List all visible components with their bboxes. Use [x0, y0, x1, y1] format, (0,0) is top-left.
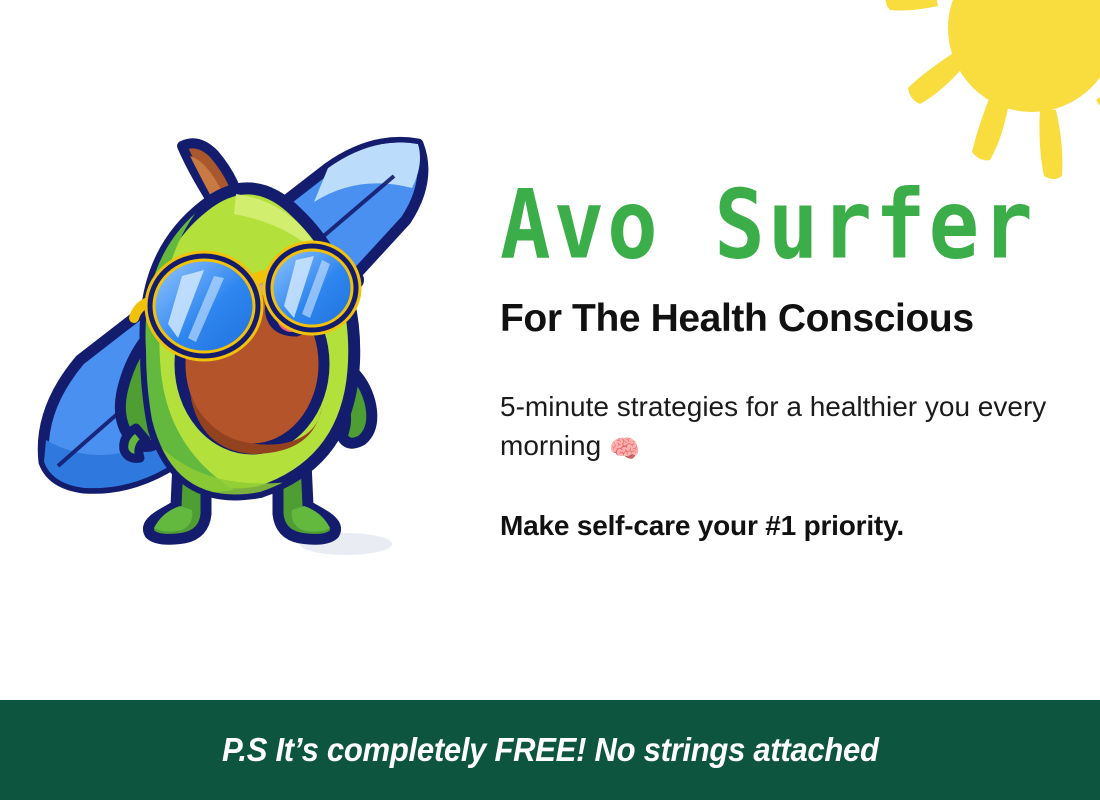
- page-title: Avo Surfer: [500, 180, 1085, 271]
- description-line: 5-minute strategies for a healthier you …: [500, 391, 1046, 462]
- avocado-surfer-mascot: [28, 110, 448, 590]
- brain-icon: 🧠: [609, 437, 640, 462]
- footer-text: P.S It’s completely FREE! No strings att…: [222, 731, 879, 769]
- description-text: 5-minute strategies for a healthier you …: [500, 341, 1085, 467]
- poster-canvas: Avo Surfer For The Health Conscious 5-mi…: [0, 0, 1100, 800]
- footer-banner: P.S It’s completely FREE! No strings att…: [0, 700, 1100, 800]
- call-to-action-text: Make self-care your #1 priority.: [500, 466, 1085, 542]
- text-content: Avo Surfer For The Health Conscious 5-mi…: [500, 180, 1085, 542]
